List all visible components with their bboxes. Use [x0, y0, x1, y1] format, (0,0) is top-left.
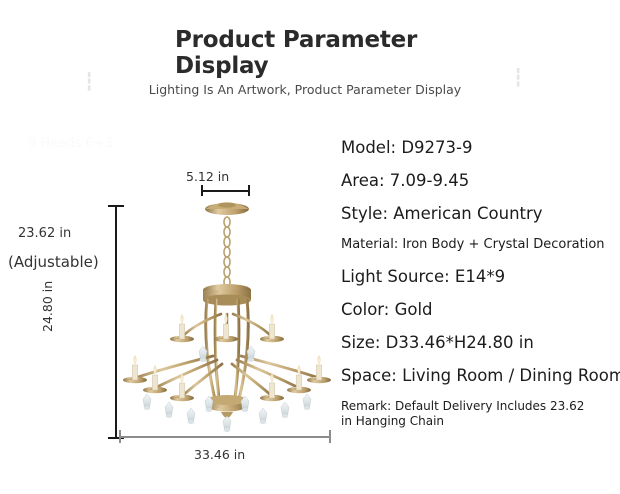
spec-light-source: Light Source: E14*9: [341, 267, 620, 286]
left-dimension-line: [115, 205, 117, 438]
spec-color: Color: Gold: [341, 300, 620, 319]
top-dimension-line: [201, 190, 249, 192]
dimension-label-top-width: 5.12 in: [186, 169, 229, 184]
decorative-marks-left-icon: ┇: [84, 74, 93, 91]
spec-material: Material: Iron Body + Crystal Decoration: [341, 237, 620, 252]
spec-remark: Remark: Default Delivery Includes 23.62 …: [341, 399, 586, 429]
dimension-label-chain: 23.62 in: [18, 226, 71, 241]
dimension-label-adjustable: (Adjustable): [8, 253, 99, 271]
page-title: Product Parameter Display: [175, 28, 475, 80]
specification-list: Model: D9273-9 Area: 7.09-9.45 Style: Am…: [341, 138, 620, 429]
watermark-label: 9 Heads 6+3: [28, 136, 113, 151]
spec-model: Model: D9273-9: [341, 138, 620, 157]
spec-style: Style: American Country: [341, 204, 620, 223]
spec-area: Area: 7.09-9.45: [341, 171, 620, 190]
upper-tier-candles: [170, 314, 284, 342]
decorative-marks-right-icon: ┇: [513, 70, 522, 87]
product-parameter-page: Product Parameter Display Lighting Is An…: [0, 0, 620, 494]
page-subtitle: Lighting Is An Artwork, Product Paramete…: [140, 82, 470, 97]
spec-space: Space: Living Room / Dining Room: [341, 366, 620, 385]
lower-hub: [207, 395, 247, 418]
dimension-label-diameter: 33.46 in: [194, 447, 245, 462]
ceiling-canopy: [205, 202, 249, 215]
chandelier-product-image: [121, 196, 333, 438]
spec-size: Size: D33.46*H24.80 in: [341, 333, 620, 352]
dimension-label-body-height: 24.80 in: [40, 281, 55, 332]
hanging-chain: [224, 217, 230, 287]
